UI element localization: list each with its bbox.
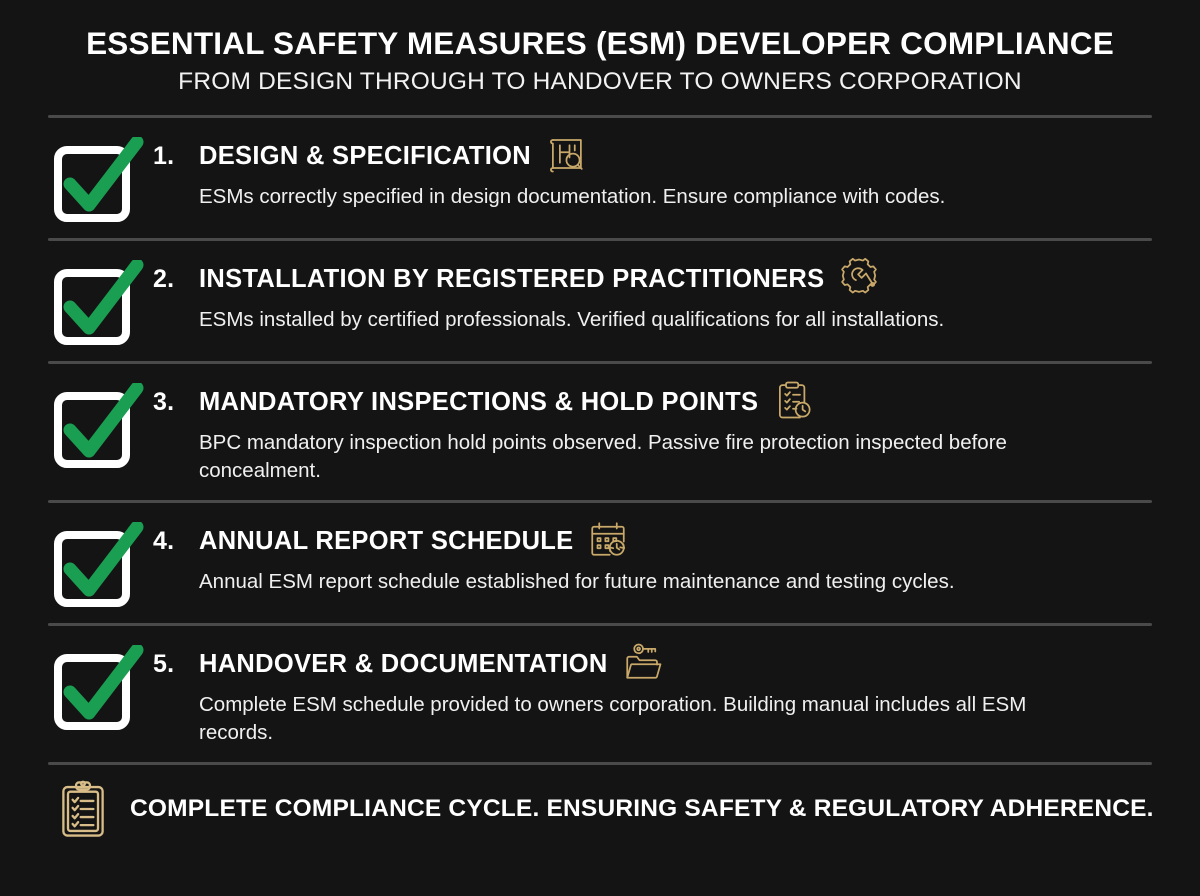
checkbox-checked-5[interactable] (48, 645, 144, 731)
footer: COMPLETE COMPLIANCE CYCLE. ENSURING SAFE… (0, 765, 1200, 839)
list-item-body: 4. ANNUAL REPORT SCHEDULE (144, 520, 1152, 596)
list-item-description: Annual ESM report schedule established f… (153, 568, 1073, 596)
checkbox-checked-4[interactable] (48, 522, 144, 608)
list-item-title: HANDOVER & DOCUMENTATION (199, 650, 608, 679)
folder-key-icon (620, 639, 666, 685)
footer-text: COMPLETE COMPLIANCE CYCLE. ENSURING SAFE… (130, 795, 1154, 823)
list-item-title: INSTALLATION BY REGISTERED PRACTITIONERS (199, 265, 824, 294)
checkbox-checked-3[interactable] (48, 383, 144, 469)
list-item-number: 4. (153, 527, 199, 556)
list-item-number: 5. (153, 650, 199, 679)
list-item-body: 2. INSTALLATION BY REGISTERED PRACTITION… (144, 258, 1152, 334)
list-item: 5. HANDOVER & DOCUMENTATION Complete ESM… (0, 626, 1200, 762)
gear-wrench-icon (836, 254, 882, 300)
list-item-heading: 5. HANDOVER & DOCUMENTATION (153, 643, 1152, 685)
clipboard-clock-icon (770, 377, 816, 423)
list-item-heading: 3. MANDATORY INSPECTIONS & HOLD POINTS (153, 381, 1152, 423)
calendar-cycle-icon (585, 516, 631, 562)
list-item-description: Complete ESM schedule provided to owners… (153, 691, 1073, 747)
page-subtitle: FROM DESIGN THROUGH TO HANDOVER TO OWNER… (0, 68, 1200, 97)
list-item-body: 3. MANDATORY INSPECTIONS & HOLD POINTS (144, 381, 1152, 485)
list-item-number: 3. (153, 388, 199, 417)
checkbox-checked-2[interactable] (48, 260, 144, 346)
list-item-number: 2. (153, 265, 199, 294)
list-item-description: ESMs installed by certified professional… (153, 306, 1073, 334)
list-item-description: BPC mandatory inspection hold points obs… (153, 429, 1073, 485)
list-item-heading: 4. ANNUAL REPORT SCHEDULE (153, 520, 1152, 562)
list-item-description: ESMs correctly specified in design docum… (153, 183, 1073, 211)
esm-compliance-infographic: ESSENTIAL SAFETY MEASURES (ESM) DEVELOPE… (0, 0, 1200, 896)
list-item-number: 1. (153, 142, 199, 171)
blueprint-magnifier-icon (543, 131, 589, 177)
list-item: 3. MANDATORY INSPECTIONS & HOLD POINTS (0, 364, 1200, 500)
list-item-body: 5. HANDOVER & DOCUMENTATION Complete ESM… (144, 643, 1152, 747)
checkbox-checked-1[interactable] (48, 137, 144, 223)
list-item: 1. DESIGN & SPECIFICATION ESMs correctly… (0, 118, 1200, 238)
list-item-title: ANNUAL REPORT SCHEDULE (199, 527, 573, 556)
list-item: 2. INSTALLATION BY REGISTERED PRACTITION… (0, 241, 1200, 361)
page-title: ESSENTIAL SAFETY MEASURES (ESM) DEVELOPE… (0, 26, 1200, 61)
list-item-heading: 1. DESIGN & SPECIFICATION (153, 135, 1152, 177)
list-item-title: DESIGN & SPECIFICATION (199, 142, 531, 171)
list-item-heading: 2. INSTALLATION BY REGISTERED PRACTITION… (153, 258, 1152, 300)
list-item-title: MANDATORY INSPECTIONS & HOLD POINTS (199, 388, 758, 417)
clipboard-checklist-icon (48, 779, 118, 839)
compliance-steps-list: 1. DESIGN & SPECIFICATION ESMs correctly… (0, 118, 1200, 762)
list-item: 4. ANNUAL REPORT SCHEDULE (0, 503, 1200, 623)
list-item-body: 1. DESIGN & SPECIFICATION ESMs correctly… (144, 135, 1152, 211)
header: ESSENTIAL SAFETY MEASURES (ESM) DEVELOPE… (0, 0, 1200, 97)
